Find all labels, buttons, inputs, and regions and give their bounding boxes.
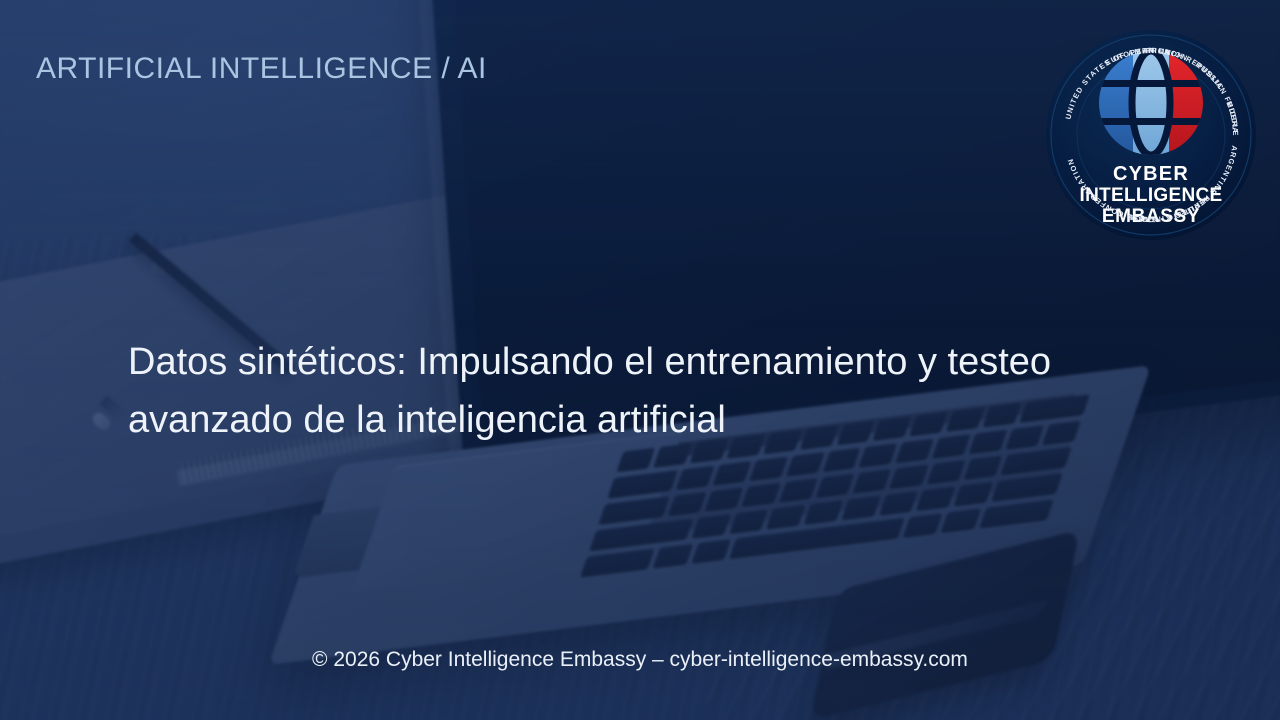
- logo-line-1: CYBER: [1113, 163, 1189, 185]
- category-kicker: ARTIFICIAL INTELLIGENCE / AI: [36, 52, 487, 86]
- slide-content: ARTIFICIAL INTELLIGENCE / AI Datos sinté…: [0, 0, 1280, 720]
- slide-canvas: ARTIFICIAL INTELLIGENCE / AI Datos sinté…: [0, 0, 1280, 720]
- slide-headline: Datos sintéticos: Impulsando el entrenam…: [128, 334, 1058, 450]
- seal-svg: CYBER INTELLIGENCE EMBASSY UNITED STATES…: [1044, 28, 1258, 242]
- copyright-footer: © 2026 Cyber Intelligence Embassy – cybe…: [0, 648, 1280, 672]
- cyber-intelligence-embassy-logo: CYBER INTELLIGENCE EMBASSY UNITED STATES…: [1044, 28, 1258, 242]
